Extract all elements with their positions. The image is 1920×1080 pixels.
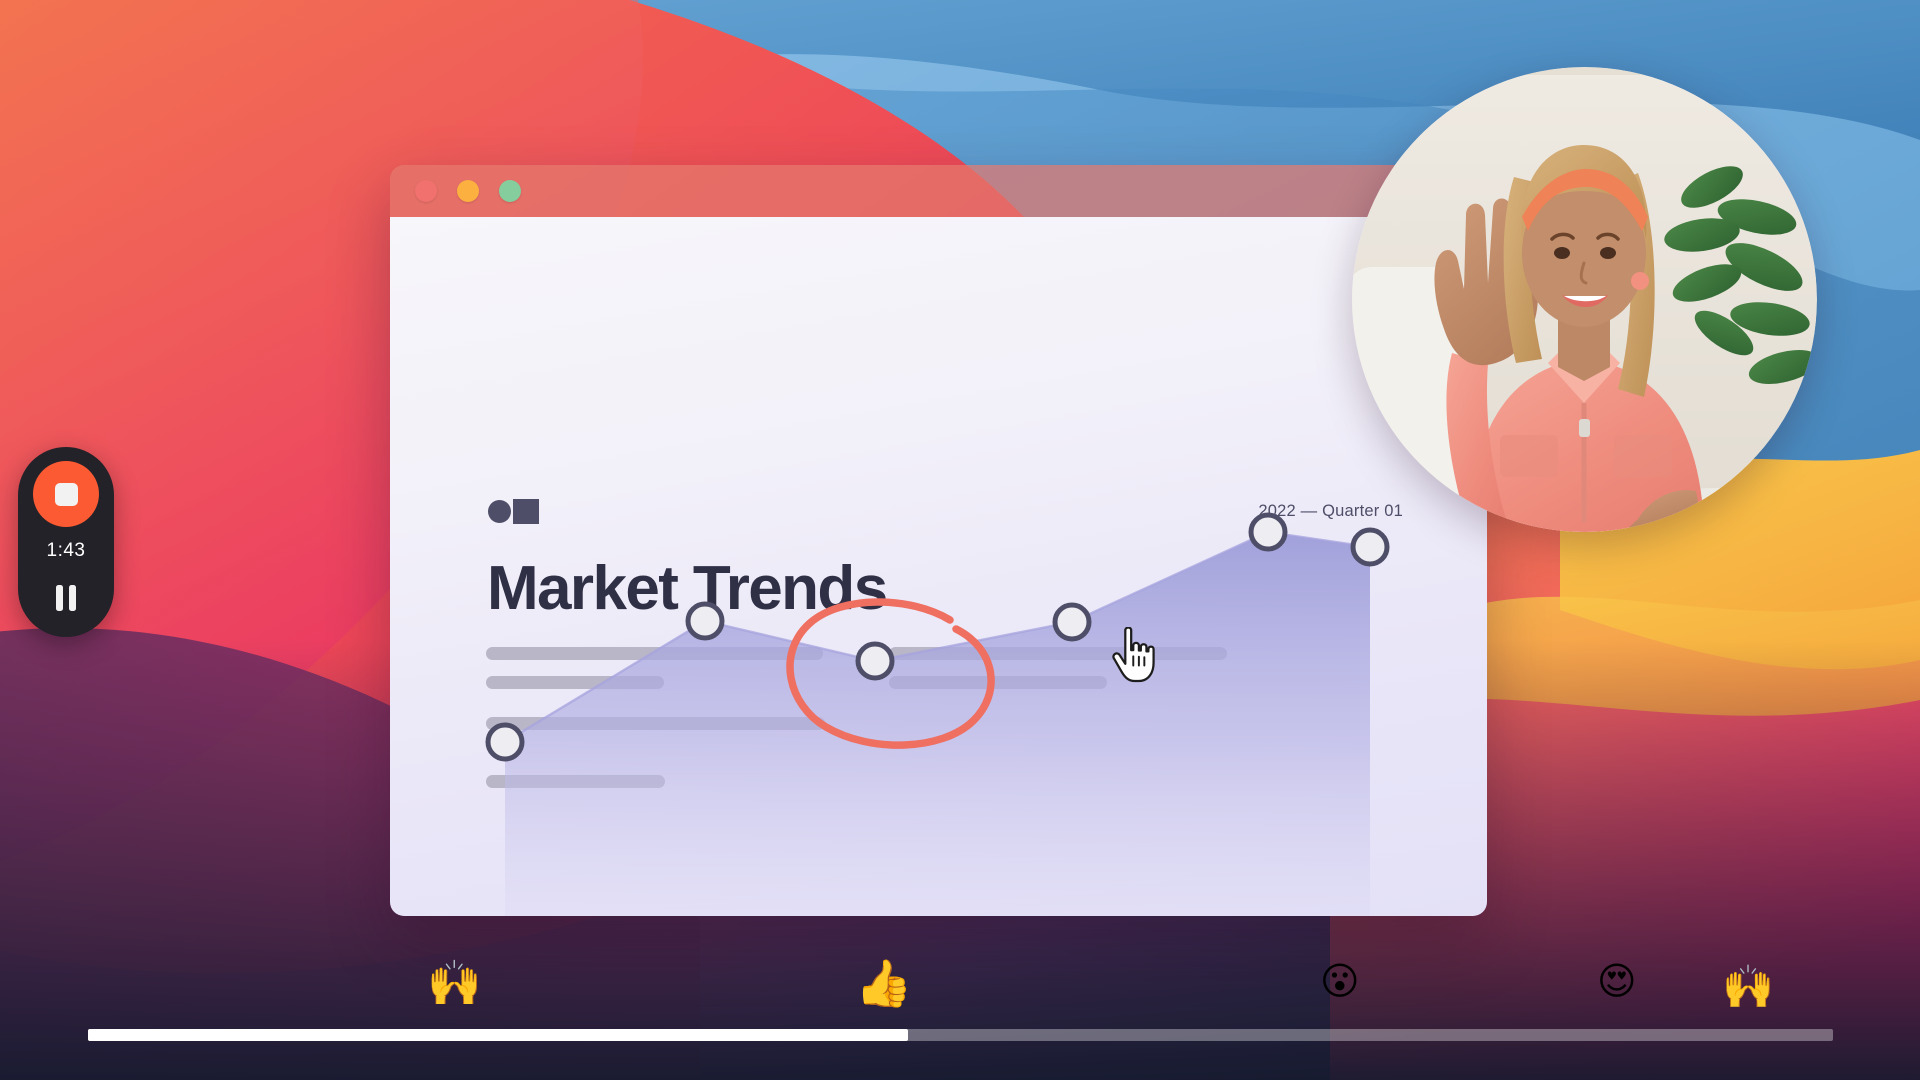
- playback-progress-fill: [88, 1029, 908, 1041]
- window-title-bar[interactable]: [390, 165, 1487, 217]
- presenter-video-frame: [1352, 67, 1817, 532]
- reaction-surprised-face[interactable]: 😮: [1320, 962, 1360, 1000]
- pause-icon-bar-left: [56, 585, 63, 611]
- slide-canvas: 2022 — Quarter 01 Market Trends: [390, 217, 1487, 916]
- minimize-window-button[interactable]: [457, 180, 479, 202]
- stop-square-icon: [55, 483, 78, 506]
- reaction-raising-hands-2[interactable]: 🙌: [1722, 966, 1774, 1008]
- stop-recording-button[interactable]: [33, 461, 99, 527]
- chart-data-point[interactable]: [688, 604, 722, 638]
- maximize-window-button[interactable]: [499, 180, 521, 202]
- reaction-heart-eyes-face[interactable]: 😍: [1597, 962, 1637, 1000]
- pause-icon-bar-right: [69, 585, 76, 611]
- close-window-button[interactable]: [415, 180, 437, 202]
- presenter-webcam-bubble[interactable]: [1352, 67, 1817, 532]
- reaction-raising-hands[interactable]: 🙌: [427, 962, 482, 1006]
- chart-data-point[interactable]: [858, 644, 892, 678]
- playback-progress-bar[interactable]: [88, 1029, 1833, 1041]
- market-trends-area-chart[interactable]: [390, 217, 1487, 916]
- chart-area-fill: [505, 532, 1370, 916]
- chart-data-point[interactable]: [1251, 515, 1285, 549]
- chart-data-point[interactable]: [488, 725, 522, 759]
- chart-data-point[interactable]: [1353, 530, 1387, 564]
- presentation-window[interactable]: 2022 — Quarter 01 Market Trends: [390, 165, 1487, 916]
- reaction-thumbs-up[interactable]: 👍: [855, 960, 912, 1006]
- pause-recording-button[interactable]: [49, 583, 83, 613]
- pointing-hand-cursor: [1109, 627, 1157, 683]
- recording-timer: 1:43: [47, 540, 86, 562]
- chart-data-point[interactable]: [1055, 605, 1089, 639]
- recording-control-widget[interactable]: 1:43: [18, 447, 114, 637]
